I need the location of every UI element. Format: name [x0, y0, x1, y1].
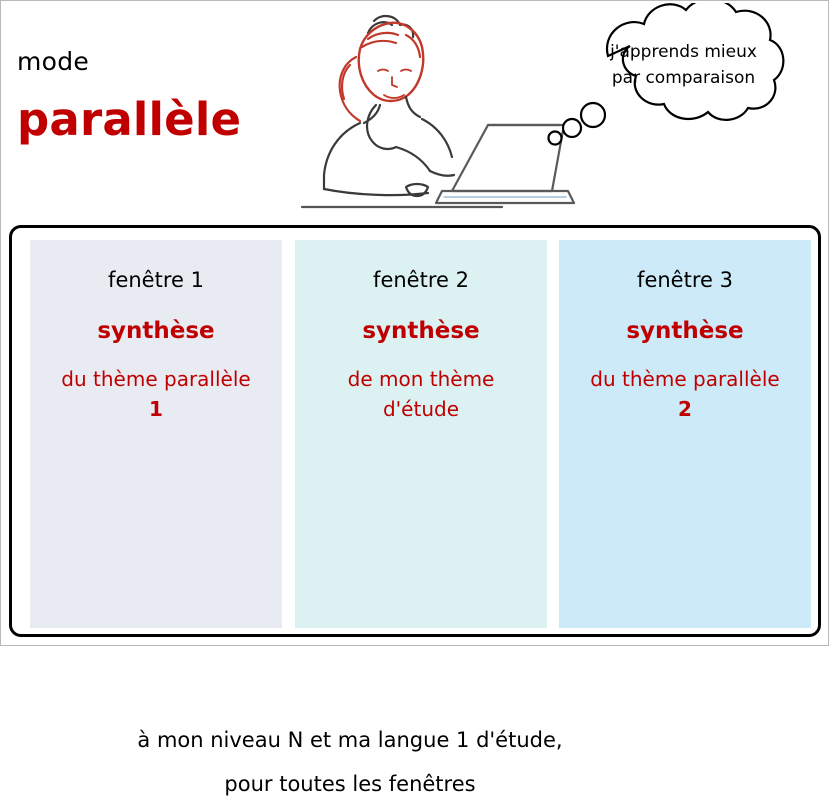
- footer-note-line2: pour toutes les fenêtres: [20, 762, 680, 806]
- window-card-2: fenêtre 2 synthèse de mon thème d'étude: [295, 240, 547, 628]
- footer-note-line1: à mon niveau N et ma langue 1 d'étude,: [20, 718, 680, 762]
- windows-row: fenêtre 1 synthèse du thème parallèle 1 …: [12, 228, 818, 634]
- window-description-line1: du thème parallèle: [559, 364, 811, 394]
- window-description-line2: 1: [30, 394, 282, 424]
- window-synthesis-label: synthèse: [295, 318, 547, 344]
- window-synthesis-label: synthèse: [559, 318, 811, 344]
- window-description-line2: 2: [559, 394, 811, 424]
- window-title: fenêtre 2: [295, 268, 547, 292]
- window-title: fenêtre 1: [30, 268, 282, 292]
- window-description: du thème parallèle 2: [559, 364, 811, 424]
- window-description-line1: du thème parallèle: [30, 364, 282, 394]
- window-description-line2: d'étude: [295, 394, 547, 424]
- window-synthesis-label: synthèse: [30, 318, 282, 344]
- student-at-laptop-illustration: [256, 1, 576, 226]
- diagram-page: mode parallèle: [0, 0, 829, 646]
- footer-note: à mon niveau N et ma langue 1 d'étude, p…: [20, 718, 680, 806]
- window-title: fenêtre 3: [559, 268, 811, 292]
- thought-bubble-text: j'apprends mieux par comparaison: [601, 39, 766, 91]
- diagram-header: mode parallèle: [1, 1, 829, 223]
- window-description-line1: de mon thème: [295, 364, 547, 394]
- window-description: du thème parallèle 1: [30, 364, 282, 424]
- window-card-1: fenêtre 1 synthèse du thème parallèle 1: [30, 240, 282, 628]
- windows-panel: fenêtre 1 synthèse du thème parallèle 1 …: [9, 225, 821, 637]
- mode-label: mode: [17, 47, 89, 76]
- window-description: de mon thème d'étude: [295, 364, 547, 424]
- window-card-3: fenêtre 3 synthèse du thème parallèle 2: [559, 240, 811, 628]
- mode-title: parallèle: [17, 93, 241, 146]
